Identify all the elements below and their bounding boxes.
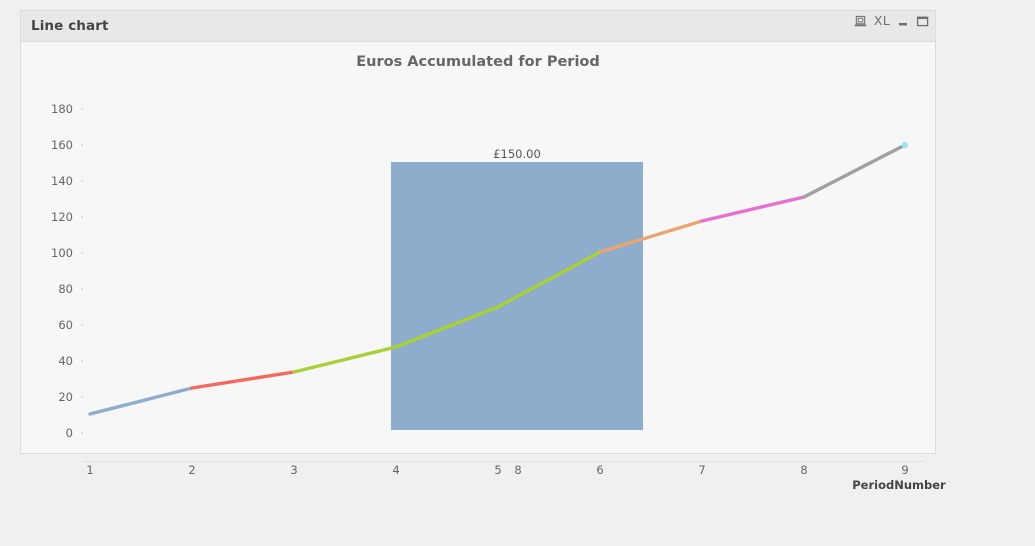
- panel-header: Line chart XL: [21, 11, 935, 42]
- chart-area: Euros Accumulated for Period 180 160 140…: [21, 42, 935, 453]
- x-axis-tick: 4: [392, 463, 399, 477]
- x-axis-tick: 5: [494, 463, 501, 477]
- line-series[interactable]: [21, 42, 937, 454]
- x-axis-tick: 9: [901, 463, 908, 477]
- excel-export-icon[interactable]: XL: [874, 15, 890, 28]
- x-axis-tick: 3: [290, 463, 297, 477]
- x-axis-tick-overlap: 8: [514, 463, 521, 477]
- x-axis-tick: 8: [800, 463, 807, 477]
- x-axis-tick: 1: [86, 463, 93, 477]
- plot-region[interactable]: 180 160 140 120 100 80 60 40 20 0 £150.0…: [21, 42, 935, 453]
- x-axis-line: [83, 461, 923, 462]
- x-axis-tick: 7: [698, 463, 705, 477]
- panel-header-icons: XL: [854, 15, 929, 28]
- maximize-icon[interactable]: [916, 15, 929, 28]
- snapshot-icon[interactable]: [854, 15, 867, 28]
- x-axis-tick: 2: [188, 463, 195, 477]
- x-axis-title: PeriodNumber: [852, 478, 945, 492]
- panel-title: Line chart: [31, 18, 109, 34]
- chart-panel: Line chart XL: [20, 10, 936, 454]
- x-axis-tick: 6: [596, 463, 603, 477]
- minimize-icon[interactable]: [897, 16, 909, 28]
